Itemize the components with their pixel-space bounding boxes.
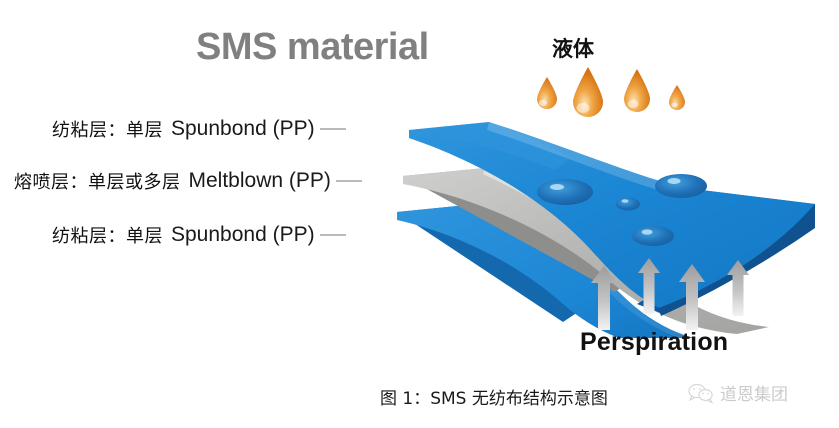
watermark: 道恩集团 bbox=[688, 380, 788, 405]
arrow-2 bbox=[638, 258, 660, 314]
layer-label-spunbond-top: 纺粘层：单层 Spunbond (PP) bbox=[52, 116, 346, 142]
layer-label-en: Spunbond (PP) bbox=[171, 223, 315, 247]
leader-line-icon bbox=[336, 180, 362, 182]
arrow-1 bbox=[591, 266, 617, 330]
layer-label-meltblown: 熔喷层：单层或多层 Meltblown (PP) bbox=[14, 168, 362, 194]
layer-label-en: Meltblown (PP) bbox=[189, 169, 331, 193]
leader-line-icon bbox=[320, 234, 346, 236]
wechat-icon bbox=[688, 382, 714, 404]
layer-label-en: Spunbond (PP) bbox=[171, 117, 315, 141]
perspiration-label: Perspiration bbox=[580, 328, 728, 357]
surface-bead-1 bbox=[537, 179, 593, 205]
leader-line-icon bbox=[320, 128, 346, 130]
surface-bead-4 bbox=[632, 226, 674, 246]
surface-bead-3 bbox=[655, 174, 707, 198]
liquid-drop-small bbox=[534, 76, 560, 112]
figure-canvas: SMS material 液体 bbox=[0, 0, 839, 428]
page-title: SMS material bbox=[196, 26, 429, 69]
layer-label-cn: 纺粘层：单层 bbox=[52, 116, 163, 142]
surface-bead-2 bbox=[616, 198, 640, 211]
arrow-4 bbox=[727, 260, 749, 316]
layer-label-spunbond-bottom: 纺粘层：单层 Spunbond (PP) bbox=[52, 222, 346, 248]
figure-caption: 图 1：SMS 无纺布结构示意图 bbox=[380, 384, 608, 409]
arrow-3 bbox=[679, 264, 705, 330]
watermark-text: 道恩集团 bbox=[720, 380, 788, 405]
liquid-label: 液体 bbox=[552, 33, 594, 63]
layer-label-cn: 纺粘层：单层 bbox=[52, 222, 163, 248]
layer-label-cn: 熔喷层：单层或多层 bbox=[14, 168, 181, 194]
perspiration-arrows bbox=[588, 252, 768, 332]
